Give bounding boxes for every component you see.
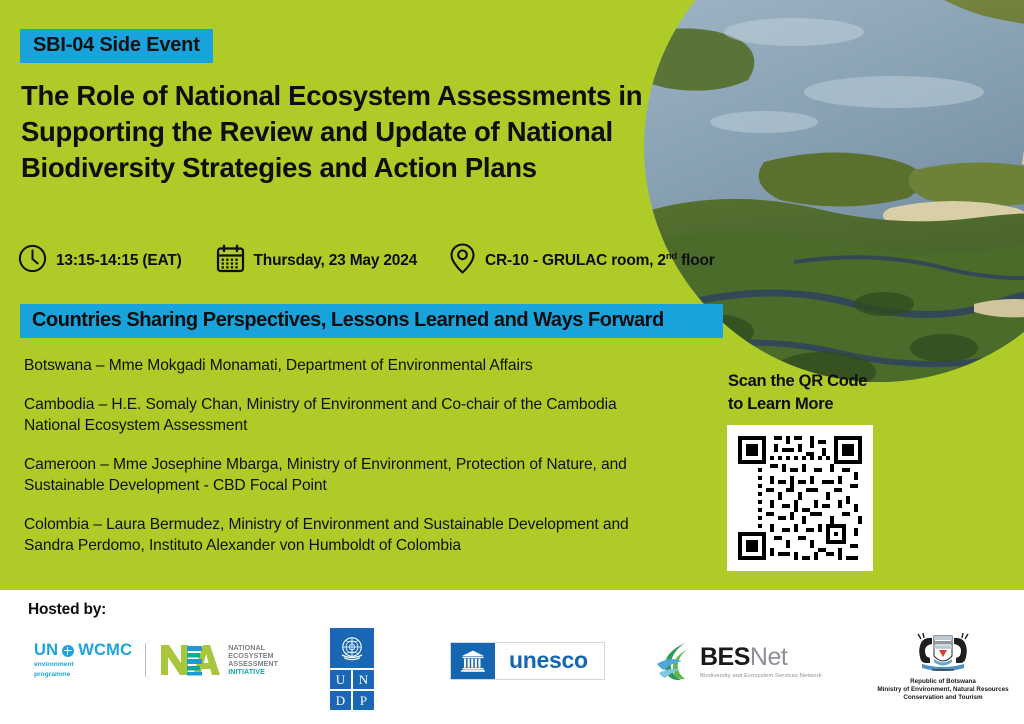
un-emblem-icon — [330, 628, 374, 668]
unep-un-text: UN — [34, 642, 58, 659]
botswana-ministry-text: Republic of Botswana Ministry of Environ… — [877, 678, 1008, 702]
event-time-label: 13:15-14:15 (EAT) — [56, 252, 182, 270]
event-date: Thursday, 23 May 2024 — [216, 244, 418, 278]
undp-letter-d: D — [330, 691, 351, 710]
logo-strip: UN WCMC environment programme — [0, 628, 1024, 708]
botswana-line-1: Republic of Botswana — [877, 678, 1008, 686]
event-location-label: CR-10 - GRULAC room, 2nd floor — [485, 251, 715, 270]
nea-line-2: ECOSYSTEM — [228, 652, 278, 660]
botswana-line-3: Conservation and Tourism — [877, 694, 1008, 702]
event-title: The Role of National Ecosystem Assessmen… — [21, 78, 646, 186]
unep-wordmark: UN WCMC — [34, 642, 132, 659]
logo-unesco: unesco — [450, 642, 605, 680]
speaker-entry-cameroon: Cameroon – Mme Josephine Mbarga, Ministr… — [24, 454, 642, 496]
calendar-icon — [216, 244, 245, 278]
qr-heading-line-1: Scan the QR Code — [728, 370, 910, 393]
nea-line-1: NATIONAL — [228, 644, 278, 652]
unesco-temple-icon — [451, 643, 495, 679]
event-type-badge-label: SBI-04 Side Event — [33, 34, 200, 57]
botswana-line-2: Ministry of Environment, Natural Resourc… — [877, 686, 1008, 694]
unep-subtitle-line-1: environment — [34, 661, 132, 669]
nea-wordmark: NATIONAL ECOSYSTEM ASSESSMENT INITIATIVE — [228, 644, 278, 677]
qr-code[interactable] — [727, 425, 873, 571]
event-location-ordinal: nd — [666, 251, 677, 262]
footer: Hosted by: UN WCMC environment programme — [0, 590, 1024, 724]
qr-heading: Scan the QR Code to Learn More — [728, 370, 910, 416]
logo-besnet: BESNet Biodiversity and Ecosystem Servic… — [655, 640, 822, 684]
nea-line-4: INITIATIVE — [228, 668, 278, 676]
map-pin-icon — [449, 243, 476, 279]
logo-botswana-ministry: Republic of Botswana Ministry of Environ… — [868, 630, 1018, 702]
besnet-tagline: Biodiversity and Ecosystem Services Netw… — [700, 673, 822, 679]
logo-nea: NATIONAL ECOSYSTEM ASSESSMENT INITIATIVE — [159, 643, 278, 677]
logo-divider — [145, 643, 146, 677]
speaker-entry-colombia: Colombia – Laura Bermudez, Ministry of E… — [24, 514, 642, 556]
event-time: 13:15-14:15 (EAT) — [18, 244, 182, 278]
event-meta-row: 13:15-14:15 (EAT) — [18, 243, 715, 279]
clock-icon — [18, 244, 47, 278]
logo-unep-wcmc-nea: UN WCMC environment programme — [34, 642, 278, 678]
botswana-coat-of-arms-icon — [906, 630, 980, 676]
event-location-floor: floor — [677, 253, 715, 270]
event-type-badge: SBI-04 Side Event — [20, 29, 213, 63]
unep-subtitle-line-2: programme — [34, 671, 132, 679]
section-banner-label: Countries Sharing Perspectives, Lessons … — [32, 309, 664, 332]
speaker-entry-botswana: Botswana – Mme Mokgadi Monamati, Departm… — [24, 355, 642, 376]
section-banner: Countries Sharing Perspectives, Lessons … — [20, 304, 723, 338]
speaker-list: Botswana – Mme Mokgadi Monamati, Departm… — [24, 355, 642, 556]
hosted-by-label: Hosted by: — [28, 601, 106, 619]
qr-section: Scan the QR Code to Learn More — [718, 370, 910, 571]
unesco-wordmark: unesco — [495, 643, 604, 679]
besnet-wordmark: BESNet — [700, 645, 822, 670]
event-location: CR-10 - GRULAC room, 2nd floor — [449, 243, 715, 279]
undp-letter-u: U — [330, 670, 351, 689]
nea-monogram-icon — [159, 643, 221, 677]
undp-letter-n: N — [353, 670, 374, 689]
besnet-leaf-icon — [655, 640, 697, 684]
speaker-entry-cambodia: Cambodia – H.E. Somaly Chan, Ministry of… — [24, 394, 642, 436]
logo-unep-wcmc: UN WCMC environment programme — [34, 642, 132, 678]
besnet-net-text: Net — [750, 643, 787, 671]
nea-line-3: ASSESSMENT — [228, 660, 278, 668]
event-poster: SBI-04 Side Event The Role of National E… — [0, 0, 1024, 724]
event-date-label: Thursday, 23 May 2024 — [254, 252, 418, 270]
event-location-room: CR-10 - GRULAC room, 2 — [485, 253, 666, 270]
qr-heading-line-2: to Learn More — [728, 393, 910, 416]
wcmc-text: WCMC — [78, 642, 132, 659]
besnet-bes-text: BES — [700, 643, 750, 671]
logo-undp: U N D P — [330, 628, 374, 710]
undp-letter-p: P — [353, 691, 374, 710]
un-globe-icon — [62, 645, 74, 657]
